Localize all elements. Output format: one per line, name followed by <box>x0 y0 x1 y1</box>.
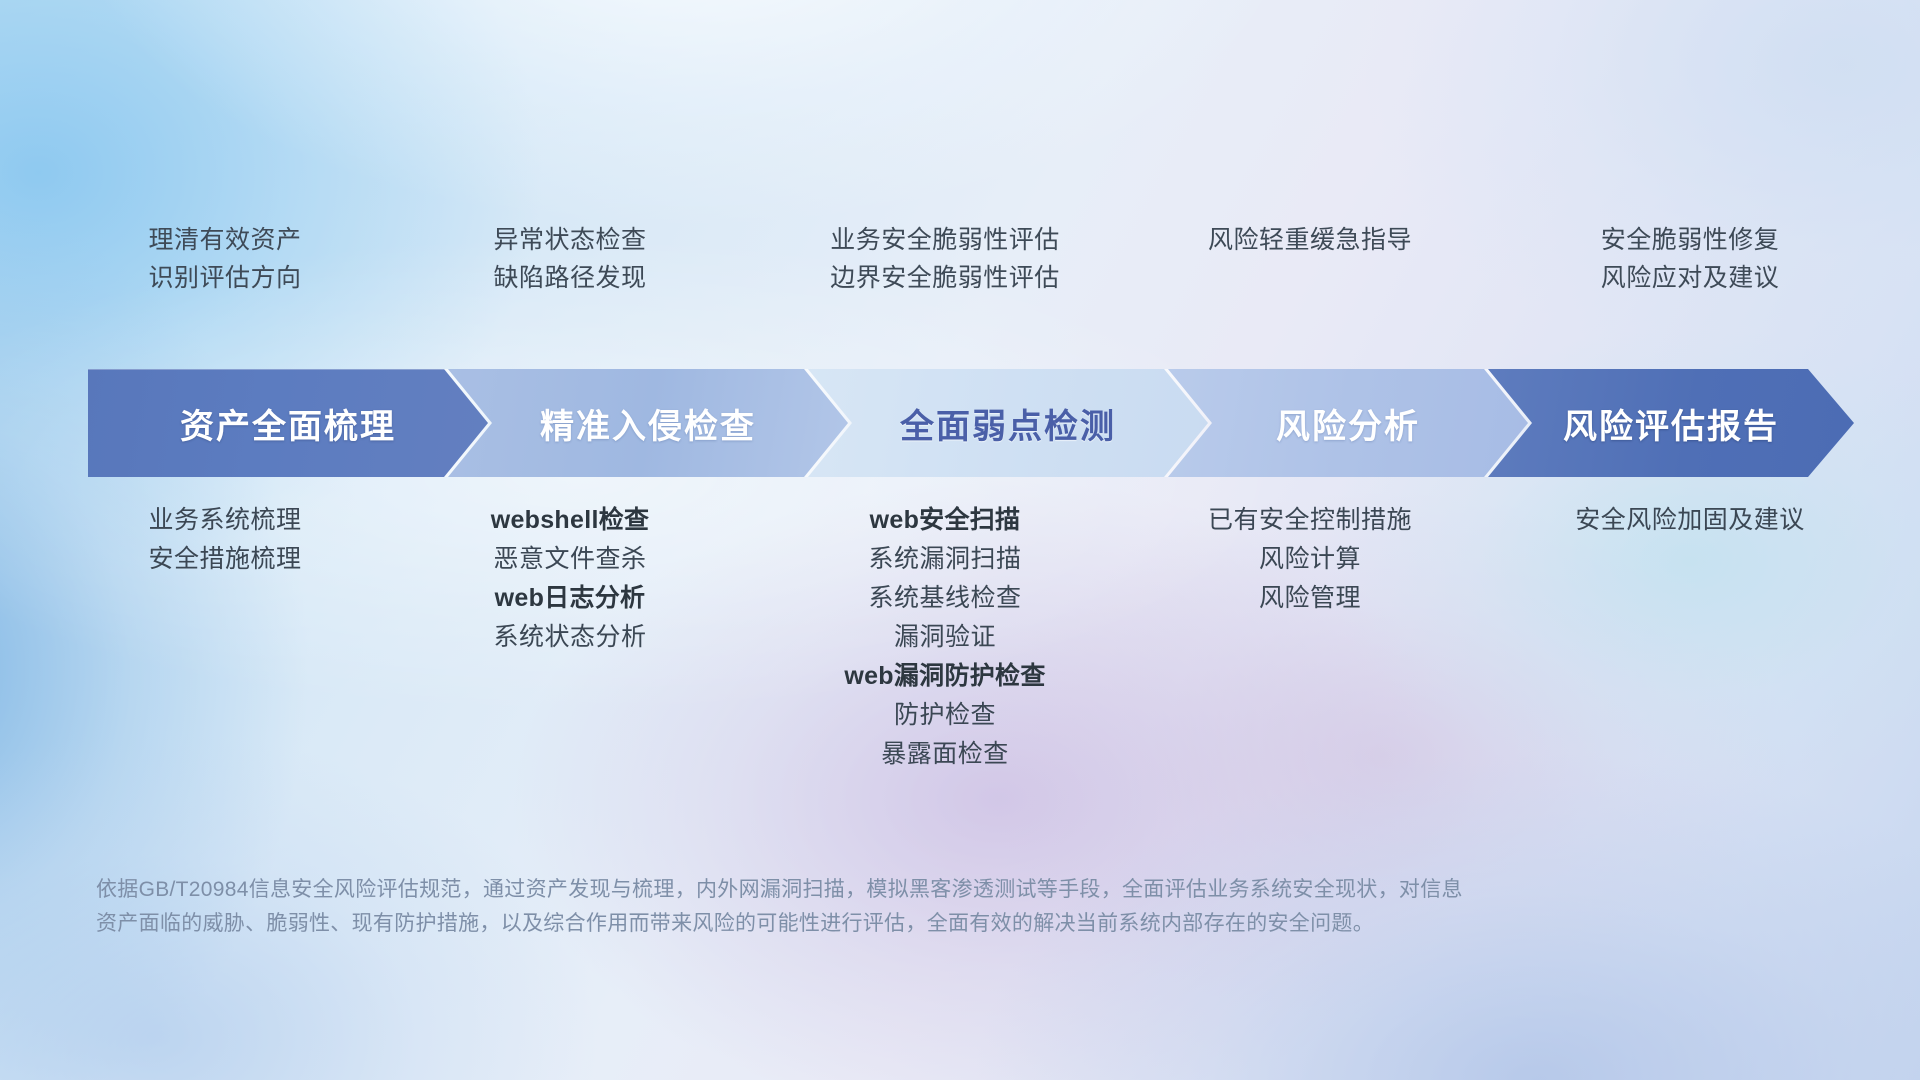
footer-line-1: 依据GB/T20984信息安全风险评估规范，通过资产发现与梳理，内外网漏洞扫描，… <box>96 873 1656 907</box>
stage-caption: 缺陷路径发现 <box>493 266 646 291</box>
process-stage-title: 风险评估报告 <box>1563 399 1779 448</box>
stage-caption: 风险轻重缓急指导 <box>1208 228 1412 253</box>
process-stage-risk-analysis[interactable]: 风险分析 <box>1168 369 1528 477</box>
slide-canvas: 理清有效资产识别评估方向异常状态检查缺陷路径发现业务安全脆弱性评估边界安全脆弱性… <box>0 0 1920 1080</box>
stage-item-group-risk-analysis: 已有安全控制措施风险计算风险管理 <box>1140 508 1480 611</box>
stage-caption: 理清有效资产 <box>148 228 301 253</box>
process-stage-risk-report[interactable]: 风险评估报告 <box>1488 369 1854 477</box>
diagram-content: 理清有效资产识别评估方向异常状态检查缺陷路径发现业务安全脆弱性评估边界安全脆弱性… <box>0 0 1920 1080</box>
stage-item-group-asset-inventory: 业务系统梳理安全措施梳理 <box>55 508 395 572</box>
stage-item-group-risk-report: 安全风险加固及建议 <box>1520 508 1860 533</box>
stage-captions-row: 理清有效资产识别评估方向异常状态检查缺陷路径发现业务安全脆弱性评估边界安全脆弱性… <box>0 228 1920 338</box>
process-stage-asset-inventory[interactable]: 资产全面梳理 <box>88 369 488 477</box>
stage-item: web安全扫描 <box>870 508 1021 533</box>
process-stage-title: 全面弱点检测 <box>900 399 1116 448</box>
stage-caption: 识别评估方向 <box>148 266 301 291</box>
stage-caption-group-weakness-detection: 业务安全脆弱性评估边界安全脆弱性评估 <box>775 228 1115 291</box>
stage-item: web漏洞防护检查 <box>844 664 1045 689</box>
stage-caption: 风险应对及建议 <box>1601 266 1780 291</box>
stage-item: 业务系统梳理 <box>148 508 301 533</box>
stage-item: web日志分析 <box>495 586 646 611</box>
process-stage-intrusion-check[interactable]: 精准入侵检查 <box>448 369 848 477</box>
stage-item: 安全风险加固及建议 <box>1575 508 1805 533</box>
process-stage-title: 风险分析 <box>1276 399 1420 448</box>
stage-item: 系统漏洞扫描 <box>868 547 1021 572</box>
stage-item: 风险计算 <box>1259 547 1361 572</box>
stage-caption-group-risk-report: 安全脆弱性修复风险应对及建议 <box>1520 228 1860 291</box>
stage-item: 防护检查 <box>894 703 996 728</box>
stage-caption-group-intrusion-check: 异常状态检查缺陷路径发现 <box>400 228 740 291</box>
process-stage-title: 精准入侵检查 <box>540 399 756 448</box>
stage-item: 暴露面检查 <box>881 742 1009 767</box>
stage-item: 系统基线检查 <box>868 586 1021 611</box>
footer-note: 依据GB/T20984信息安全风险评估规范，通过资产发现与梳理，内外网漏洞扫描，… <box>96 873 1656 941</box>
stage-item-group-weakness-detection: web安全扫描系统漏洞扫描系统基线检查漏洞验证web漏洞防护检查防护检查暴露面检… <box>775 508 1115 767</box>
stage-item: 安全措施梳理 <box>148 547 301 572</box>
stage-item: 风险管理 <box>1259 586 1361 611</box>
stage-caption-group-asset-inventory: 理清有效资产识别评估方向 <box>55 228 395 291</box>
stage-item: 漏洞验证 <box>894 625 996 650</box>
footer-line-2: 资产面临的威胁、脆弱性、现有防护措施，以及综合作用而带来风险的可能性进行评估，全… <box>96 907 1656 941</box>
stage-item: 系统状态分析 <box>493 625 646 650</box>
stage-caption-group-risk-analysis: 风险轻重缓急指导 <box>1140 228 1480 253</box>
stage-item-group-intrusion-check: webshell检查恶意文件查杀web日志分析系统状态分析 <box>400 508 740 650</box>
stage-caption: 异常状态检查 <box>493 228 646 253</box>
stage-item: 恶意文件查杀 <box>493 547 646 572</box>
stage-item: 已有安全控制措施 <box>1208 508 1412 533</box>
stage-caption: 业务安全脆弱性评估 <box>830 228 1060 253</box>
process-arrow-banner: 资产全面梳理精准入侵检查全面弱点检测风险分析风险评估报告 <box>88 369 1854 477</box>
stage-caption: 边界安全脆弱性评估 <box>830 266 1060 291</box>
stage-item: webshell检查 <box>491 508 650 533</box>
stage-caption: 安全脆弱性修复 <box>1601 228 1780 253</box>
process-stage-title: 资产全面梳理 <box>180 399 396 448</box>
process-stage-weakness-detection[interactable]: 全面弱点检测 <box>808 369 1208 477</box>
